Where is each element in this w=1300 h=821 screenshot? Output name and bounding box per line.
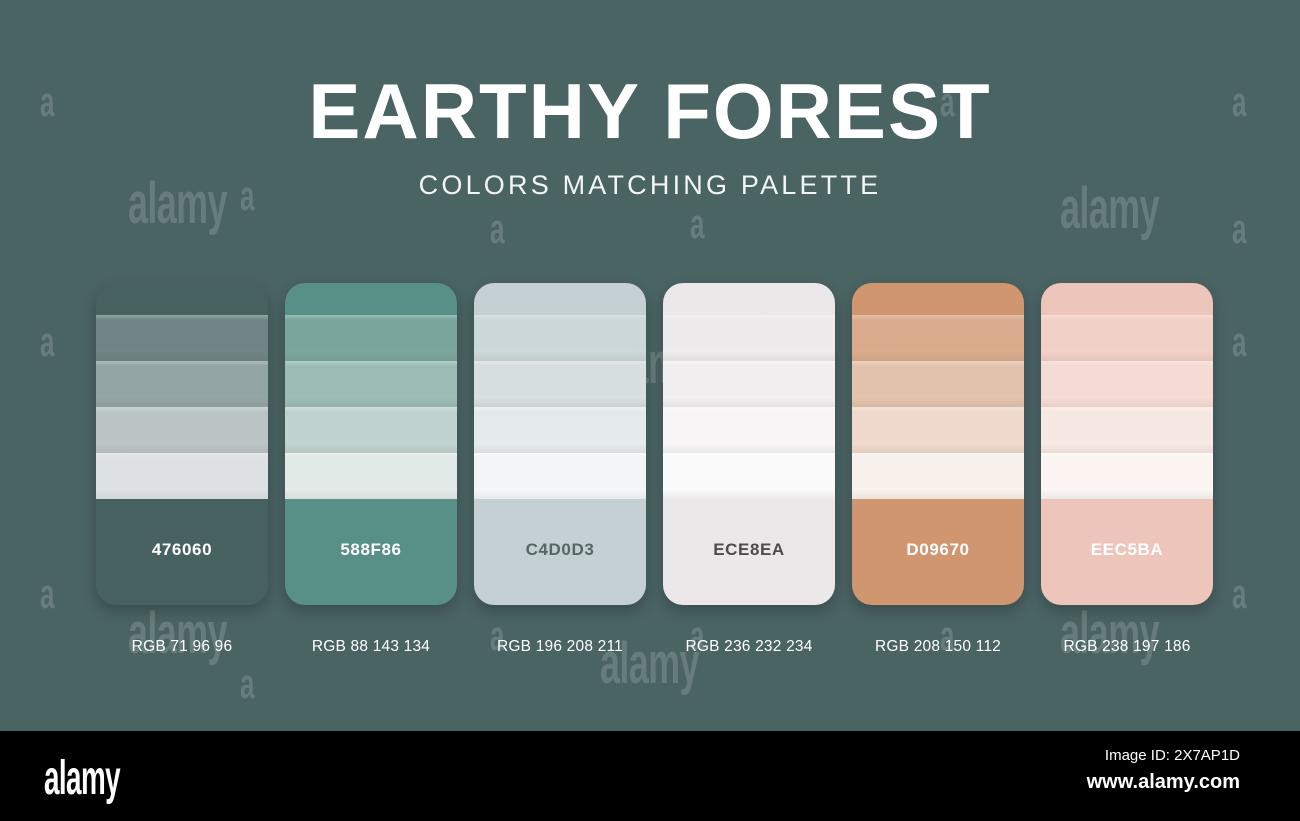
swatch-row: 476060RGB 71 96 96588F86RGB 88 143 134C4…: [96, 283, 1206, 668]
alamy-url-label: www.alamy.com: [920, 771, 1240, 794]
swatch-card[interactable]: D09670: [852, 283, 1024, 605]
image-id-label: Image ID: 2X7AP1D: [920, 747, 1240, 764]
swatch-rgb-label: RGB 236 232 234: [641, 638, 857, 656]
alamy-logo: alamy: [44, 751, 120, 806]
swatch-band: [663, 361, 835, 407]
palette-poster: aaaaaaaaaaaaaaaaaaaalamyalamyalamyalamya…: [0, 0, 1300, 731]
color-swatch[interactable]: C4D0D3RGB 196 208 211: [474, 283, 646, 605]
swatch-card[interactable]: 476060: [96, 283, 268, 605]
watermark-letter: a: [40, 318, 54, 366]
swatch-band: [474, 361, 646, 407]
color-swatch[interactable]: ECE8EARGB 236 232 234: [663, 283, 835, 605]
watermark-letter: a: [1232, 205, 1246, 253]
swatch-band: [852, 315, 1024, 361]
swatch-band: [1041, 453, 1213, 499]
swatch-band: [285, 361, 457, 407]
swatch-band: [663, 407, 835, 453]
swatch-band: [285, 315, 457, 361]
swatch-band: [1041, 407, 1213, 453]
swatch-rgb-label: RGB 208 150 112: [830, 638, 1046, 656]
title-block: EARTHY FOREST COLORS MATCHING PALETTE: [0, 72, 1300, 201]
color-swatch[interactable]: 476060RGB 71 96 96: [96, 283, 268, 605]
swatch-hex-label: ECE8EA: [663, 540, 835, 560]
swatch-rgb-label: RGB 71 96 96: [74, 638, 290, 656]
screenshot-root: aaaaaaaaaaaaaaaaaaaalamyalamyalamyalamya…: [0, 0, 1300, 821]
swatch-band: [663, 453, 835, 499]
swatch-hex-label: 588F86: [285, 540, 457, 560]
watermark-letter: a: [1232, 318, 1246, 366]
swatch-band: [474, 315, 646, 361]
swatch-band: [852, 361, 1024, 407]
swatch-card[interactable]: ECE8EA: [663, 283, 835, 605]
color-swatch[interactable]: D09670RGB 208 150 112: [852, 283, 1024, 605]
swatch-hex-label: D09670: [852, 540, 1024, 560]
swatch-rgb-label: RGB 196 208 211: [452, 638, 668, 656]
swatch-band: [663, 315, 835, 361]
swatch-band: [852, 407, 1024, 453]
watermark-letter: a: [1232, 570, 1246, 618]
swatch-band: [474, 407, 646, 453]
swatch-band: [474, 453, 646, 499]
swatch-hex-label: EEC5BA: [1041, 540, 1213, 560]
page-title: EARTHY FOREST: [0, 72, 1300, 150]
swatch-hex-label: C4D0D3: [474, 540, 646, 560]
color-swatch[interactable]: 588F86RGB 88 143 134: [285, 283, 457, 605]
swatch-band: [852, 453, 1024, 499]
swatch-card[interactable]: C4D0D3: [474, 283, 646, 605]
swatch-rgb-label: RGB 88 143 134: [263, 638, 479, 656]
swatch-band: [96, 407, 268, 453]
swatch-band: [285, 407, 457, 453]
watermark-letter: a: [490, 205, 504, 253]
watermark-letter: a: [40, 570, 54, 618]
swatch-band: [96, 315, 268, 361]
swatch-card[interactable]: EEC5BA: [1041, 283, 1213, 605]
swatch-band: [285, 453, 457, 499]
swatch-band: [1041, 361, 1213, 407]
watermark-letter: a: [690, 200, 704, 248]
swatch-hex-label: 476060: [96, 540, 268, 560]
color-swatch[interactable]: EEC5BARGB 238 197 186: [1041, 283, 1213, 605]
page-subtitle: COLORS MATCHING PALETTE: [0, 170, 1300, 201]
swatch-rgb-label: RGB 238 197 186: [1019, 638, 1235, 656]
swatch-band: [1041, 315, 1213, 361]
alamy-footer-bar: alamy Image ID: 2X7AP1D www.alamy.com: [0, 731, 1300, 821]
swatch-band: [96, 453, 268, 499]
swatch-card[interactable]: 588F86: [285, 283, 457, 605]
swatch-band: [96, 361, 268, 407]
